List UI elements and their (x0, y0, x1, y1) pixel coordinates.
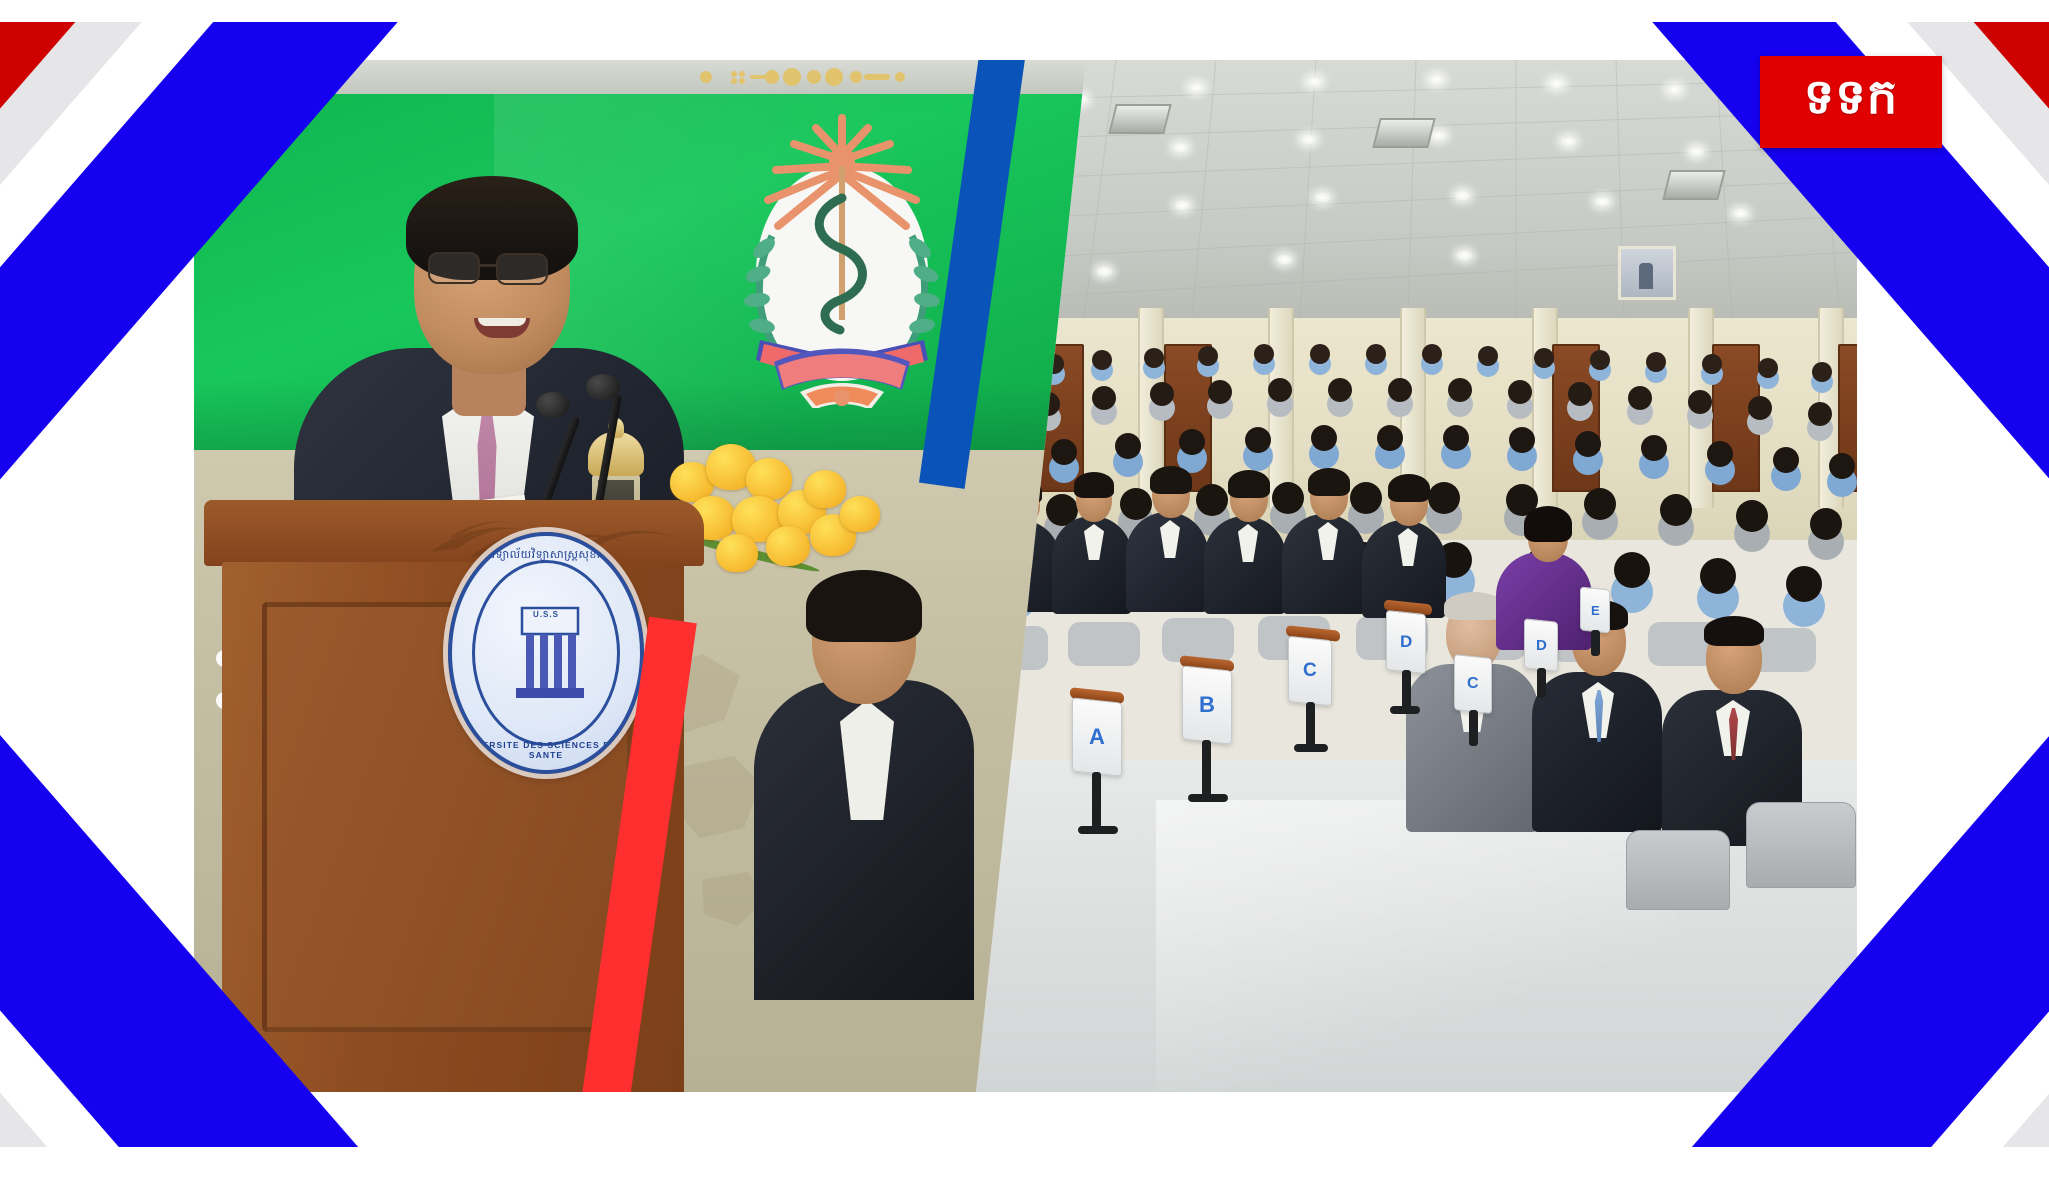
logo-khmer-text: ទទក (1760, 56, 1942, 148)
channel-logo: ទទក (1760, 56, 1942, 148)
frame-blue-wedge-bottom-right (1571, 607, 2049, 1177)
decorative-frame (0, 0, 2049, 1177)
screenshot-root: សកលវិទ្យាល័យវិទ្យាសាស្ត្រសុខាភិបាល U.S.S… (0, 0, 2049, 1177)
frame-blue-wedge-bottom-left (0, 607, 479, 1177)
frame-bottom-strip (0, 1147, 2049, 1177)
frame-top-strip (0, 0, 2049, 22)
